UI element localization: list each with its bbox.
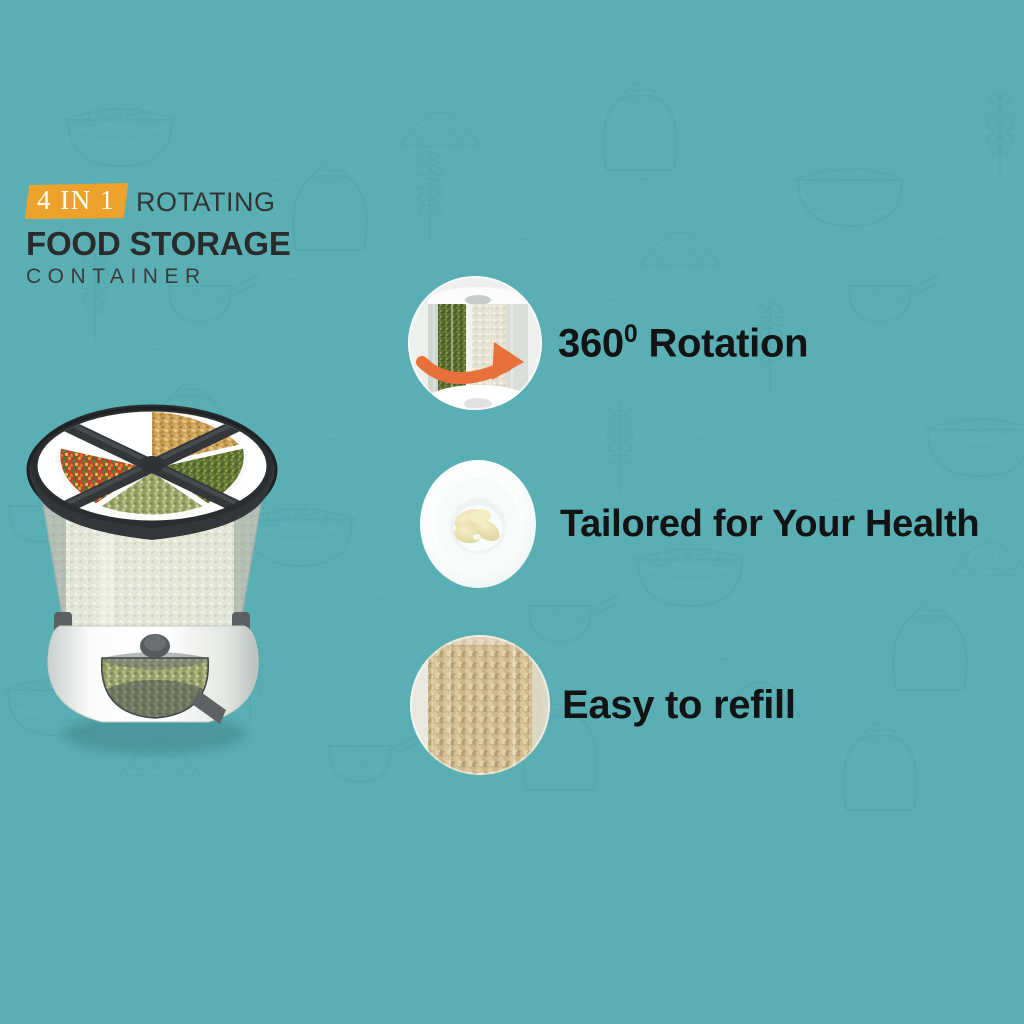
badge-4-in-1-label: 4 IN 1 [37, 186, 115, 215]
feature-label-rotation: 3600 Rotation [558, 323, 808, 363]
headline-food-storage: FOOD STORAGE [26, 227, 366, 262]
badge-4-in-1: 4 IN 1 [25, 183, 129, 219]
refill-thumbnail [410, 635, 550, 775]
degree-symbol: 0 [624, 321, 638, 348]
infographic-canvas: 4 IN 1 ROTATING FOOD STORAGE CONTAINER [0, 0, 1024, 1024]
headline-container: CONTAINER [26, 266, 366, 288]
feature-label-refill: Easy to refill [562, 685, 796, 725]
headline-block: 4 IN 1 ROTATING FOOD STORAGE CONTAINER [26, 182, 366, 288]
feature-rotation-tail: Rotation [638, 321, 809, 365]
health-thumbnail [412, 458, 544, 590]
feature-label-health: Tailored for Your Health [560, 505, 979, 543]
feature-row-health: Tailored for Your Health [412, 458, 979, 590]
product-image [2, 358, 302, 770]
feature-row-rotation: 3600 Rotation [408, 276, 808, 410]
headline-rotating-word: ROTATING [136, 189, 276, 216]
rotation-thumbnail [408, 276, 542, 410]
feature-rotation-number: 360 [558, 321, 624, 365]
headline-line-1: 4 IN 1 ROTATING [26, 182, 366, 222]
feature-row-refill: Easy to refill [410, 635, 796, 775]
